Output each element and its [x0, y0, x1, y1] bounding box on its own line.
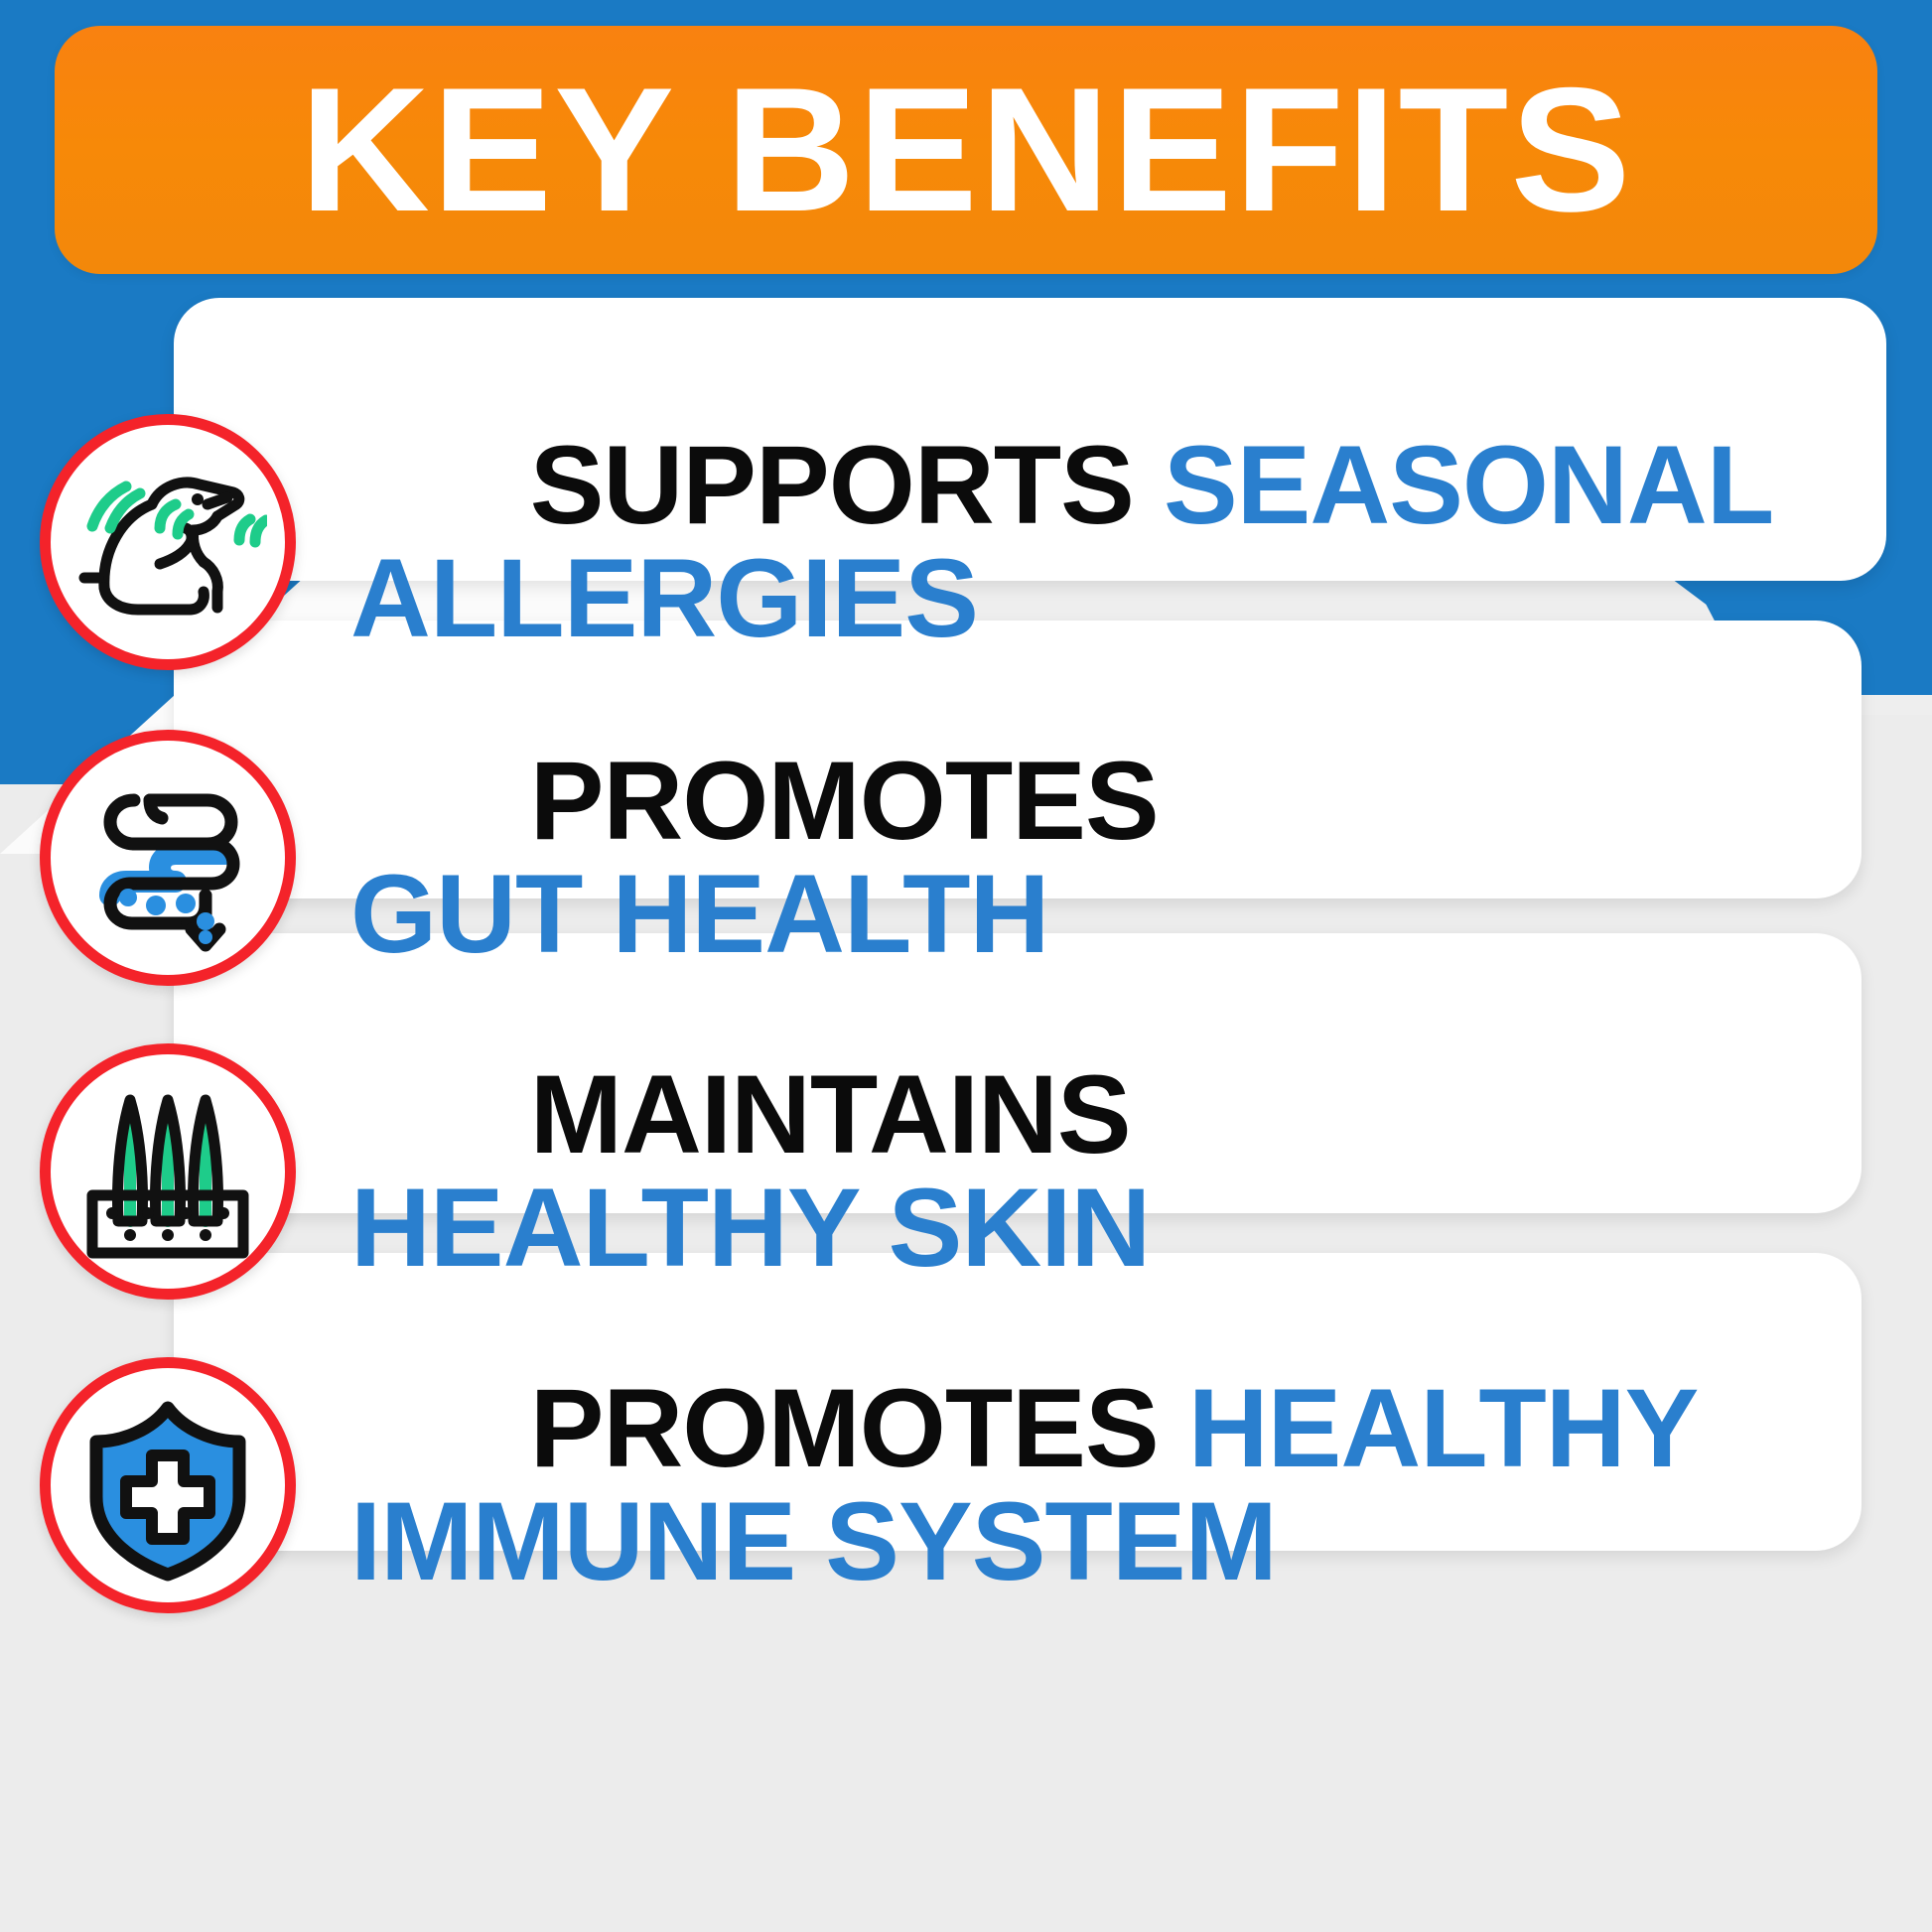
benefit-prefix-1: SUPPORTS: [530, 423, 1164, 547]
shield-cross-immune-icon: [40, 1357, 296, 1613]
benefit-label-4: PROMOTES HEALTHY IMMUNE SYSTEM: [350, 1259, 1899, 1713]
benefit-row-immune-system: PROMOTES HEALTHY IMMUNE SYSTEM: [40, 1259, 1899, 1713]
benefit-prefix-2: PROMOTES: [530, 739, 1159, 863]
key-benefits-banner: KEY BENEFITS: [55, 26, 1877, 274]
benefit-prefix-4: PROMOTES: [530, 1366, 1188, 1490]
page-title: KEY BENEFITS: [300, 62, 1633, 238]
benefit-prefix-3: MAINTAINS: [530, 1052, 1131, 1176]
infographic-root: KEY BENEFITS: [0, 0, 1932, 1932]
